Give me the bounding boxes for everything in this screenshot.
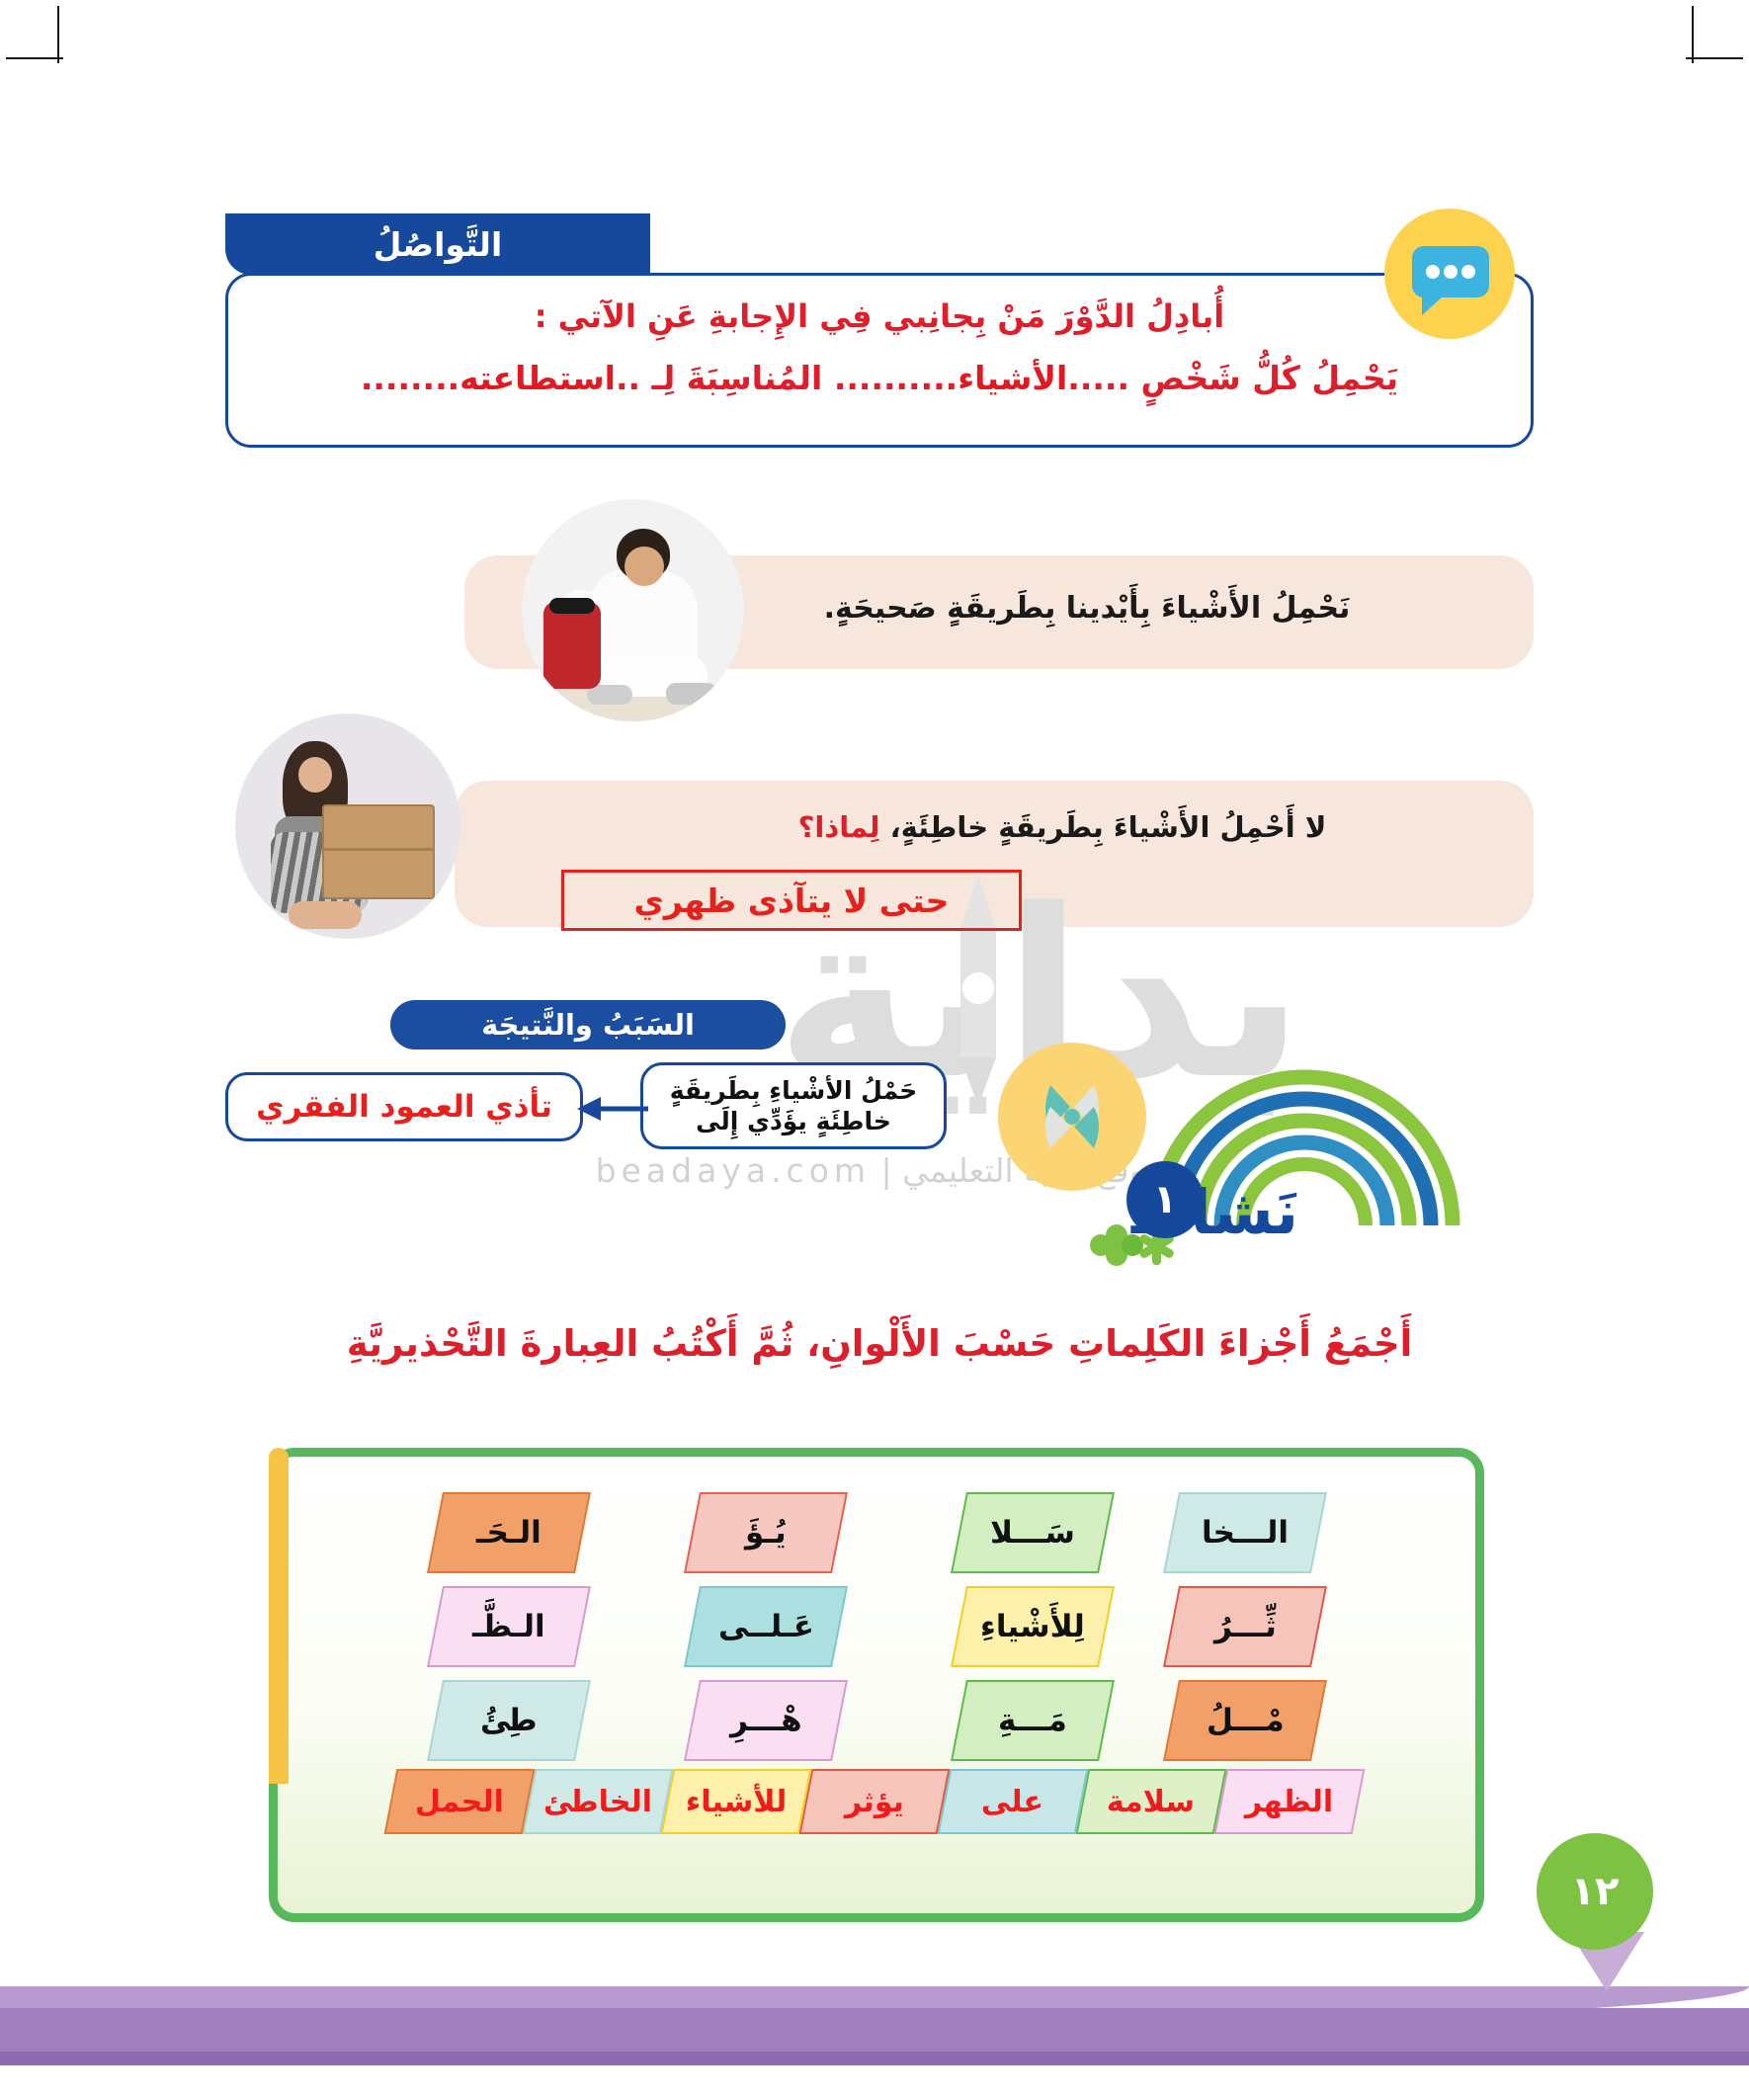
word-tile[interactable]: لِلأَشْياءِ	[951, 1586, 1115, 1667]
answer-tile-text: الظهر	[1245, 1785, 1333, 1819]
frame-accent-bar	[269, 1448, 289, 1784]
answer-tile-text: على	[981, 1785, 1043, 1819]
crop-mark	[1692, 6, 1694, 63]
word-tile[interactable]: يُـؤَ	[684, 1492, 848, 1573]
crop-mark	[57, 6, 59, 63]
fill-in-sentence: يَحْمِلُ كُلُّ شَخْصٍ .....الأشياء......…	[228, 359, 1531, 397]
answer-tile[interactable]: سلامة	[1076, 1769, 1227, 1834]
bottom-band-edge	[0, 2052, 1749, 2065]
communication-prompt: أُبادِلُ الدَّوْرَ مَنْ بِجانِبي فِي الإ…	[228, 297, 1531, 335]
word-tile[interactable]: الـظَّـ	[427, 1586, 591, 1667]
cause-box: حَمْلُ الأشْياءِ بِطَريقَةٍ خاطِئَةٍ يؤَ…	[640, 1062, 947, 1149]
word-tile-text: مَـــةِ	[998, 1703, 1067, 1738]
answer-tile[interactable]: يؤثر	[799, 1769, 951, 1834]
caption-statement-2: لا أَحْمِلُ الأَشْياءَ بِطَريقَةٍ خاطِئَ…	[890, 810, 1327, 844]
word-tile-text: سَـــلا	[990, 1515, 1075, 1551]
word-tile-text: ثِّـــرُ	[1214, 1609, 1277, 1644]
communication-tab: التَّواصُلُ	[225, 213, 650, 275]
girl-carrying-box-photo	[235, 714, 460, 939]
word-tile-text: الـظَّـ	[472, 1609, 545, 1644]
word-tile-text: الـــخا	[1202, 1515, 1289, 1551]
sentence-part-2: المُناسِبَةَ لِـ	[652, 359, 823, 397]
answer-tile-text: الخاطئ	[543, 1785, 652, 1819]
answer-tile[interactable]: الخاطئ	[523, 1769, 674, 1834]
handwritten-answer-box[interactable]: حتى لا يتآذى ظهري	[561, 870, 1022, 931]
crop-mark	[6, 57, 63, 59]
word-tile[interactable]: طِئُ	[427, 1680, 591, 1761]
blank-dots-leading: .....	[1067, 359, 1129, 397]
blank-dots-1: ..........	[834, 359, 958, 397]
page-number: ١٢	[1571, 1869, 1620, 1914]
word-tile-text: عَـلــى	[718, 1609, 814, 1644]
word-tile[interactable]: مَـــةِ	[951, 1680, 1115, 1761]
word-tile-text: هْـــرِ	[730, 1703, 802, 1738]
answer-tile-text: سلامة	[1107, 1785, 1195, 1819]
answer-tile[interactable]: للأشياء	[661, 1769, 812, 1834]
word-tile[interactable]: مْـــلُ	[1163, 1680, 1327, 1761]
speech-bubble-icon	[1378, 203, 1522, 346]
word-tile[interactable]: عَـلــى	[684, 1586, 848, 1667]
communication-tab-label: التَّواصُلُ	[374, 225, 503, 264]
cause-text: حَمْلُ الأشْياءِ بِطَريقَةٍ خاطِئَةٍ يؤَ…	[643, 1075, 944, 1137]
page-number-badge: ١٢	[1537, 1833, 1653, 1950]
cause-effect-tab: السَبَبُ والنَّتيجَة	[390, 1000, 786, 1050]
caption-text-1: نَحْمِلُ الأَشْياءَ بِأَيْدينا بِطَريقَة…	[692, 591, 1482, 626]
cause-effect-tab-label: السَبَبُ والنَّتيجَة	[481, 1008, 695, 1042]
crop-mark	[1686, 57, 1743, 59]
sentence-answer-1[interactable]: الأشياء	[958, 359, 1067, 397]
word-tile-text: يُـؤَ	[745, 1515, 787, 1551]
boy-lifting-backpack-photo	[522, 499, 744, 721]
effect-box[interactable]: تأذي العمود الفقري	[225, 1072, 583, 1141]
communication-box: أُبادِلُ الدَّوْرَ مَنْ بِجانِبي فِي الإ…	[225, 273, 1534, 448]
sentence-part-1: يَحْمِلُ كُلُّ شَخْصٍ	[1140, 359, 1398, 397]
word-tile[interactable]: الـــخا	[1163, 1492, 1327, 1573]
worksheet-page: بداية موقع بداية التعليمي | beadaya.com …	[0, 0, 1749, 2100]
word-tile-text: مْـــلُ	[1207, 1703, 1285, 1738]
word-tile-text: طِئُ	[480, 1703, 538, 1738]
word-tile-text: لِلأَشْياءِ	[980, 1609, 1085, 1644]
activity-number: ١	[1153, 1177, 1177, 1222]
word-tile[interactable]: الـحَـ	[427, 1492, 591, 1573]
answer-tile-text: الحمل	[415, 1785, 504, 1819]
sentence-answer-2[interactable]: استطاعته	[459, 359, 616, 397]
answer-tile[interactable]: على	[938, 1769, 1089, 1834]
handwritten-answer-text: حتى لا يتآذى ظهري	[634, 882, 950, 920]
caption-text-2: لا أَحْمِلُ الأَشْياءَ بِطَريقَةٍ خاطِئَ…	[652, 810, 1472, 844]
blank-dots-2: ........	[361, 359, 459, 397]
answer-tile[interactable]: الظهر	[1214, 1769, 1366, 1834]
word-tile[interactable]: سَـــلا	[951, 1492, 1115, 1573]
word-tile[interactable]: هْـــرِ	[684, 1680, 848, 1761]
arrow-left-icon	[571, 1089, 650, 1129]
word-tile-text: الـحَـ	[476, 1515, 541, 1551]
answer-tile[interactable]: الحمل	[384, 1769, 536, 1834]
activity-instruction: أَجْمَعُ أَجْزاءَ الكَلِماتِ حَسْبَ الأَ…	[212, 1322, 1546, 1365]
activity-number-badge: ١	[1126, 1161, 1204, 1238]
blank-dots-leading-2: ..	[616, 359, 640, 397]
caption-question-2: لِماذا؟	[798, 810, 880, 844]
word-tile[interactable]: ثِّـــرُ	[1163, 1586, 1327, 1667]
effect-text: تأذي العمود الفقري	[256, 1089, 552, 1125]
answer-tile-text: يؤثر	[845, 1785, 904, 1819]
answer-tile-text: للأشياء	[686, 1785, 787, 1819]
